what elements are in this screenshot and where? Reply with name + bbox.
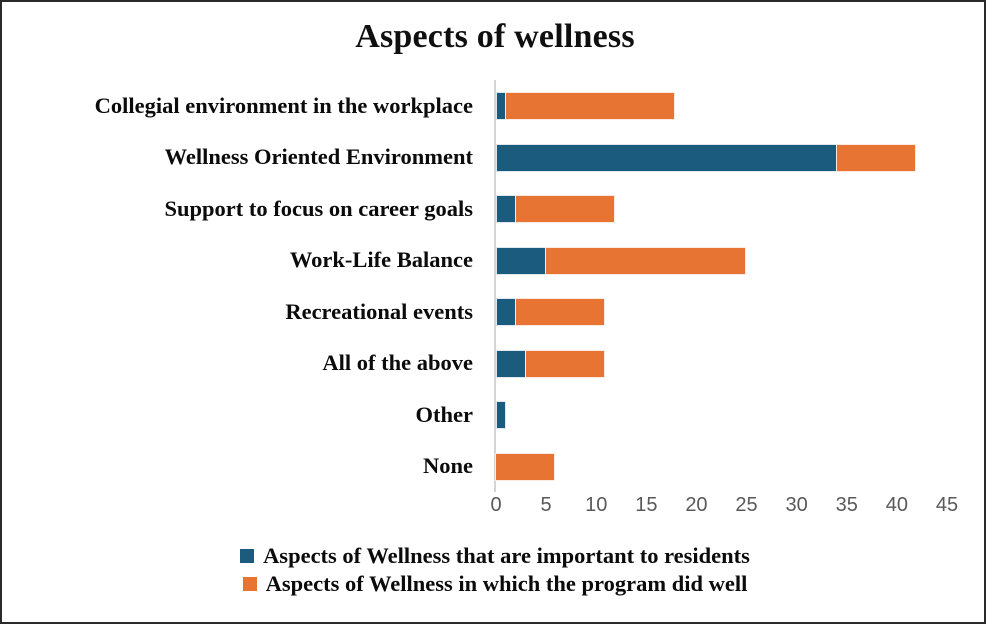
bar-segment-series-b [495,453,555,481]
legend-item-series-a[interactable]: Aspects of Wellness that are important t… [2,542,986,570]
chart-legend: Aspects of Wellness that are important t… [2,542,986,598]
legend-swatch-series-a [240,549,254,563]
bar-segment-series-a [496,247,546,275]
x-tick-label: 40 [886,494,908,517]
bar-segment-series-a [496,401,506,429]
category-label: Other [2,389,482,441]
bar-segment-series-a [496,144,837,172]
bar-segment-series-a [496,195,516,223]
chart-row: Wellness Oriented Environment [2,132,986,184]
stacked-bar [496,350,605,378]
chart-figure: Aspects of wellness Collegial environmen… [0,0,986,624]
category-label: Support to focus on career goals [2,183,482,235]
category-label: Work-Life Balance [2,235,482,287]
x-tick-label: 35 [836,494,858,517]
stacked-bar [496,298,605,326]
bar-segment-series-b [545,247,745,275]
bar-segment-series-a [496,350,526,378]
x-tick-label: 10 [585,494,607,517]
legend-swatch-series-b [243,577,257,591]
chart-row: Recreational events [2,286,986,338]
category-label: Recreational events [2,286,482,338]
stacked-bar [496,401,506,429]
x-tick-label: 20 [685,494,707,517]
chart-row: Other [2,389,986,441]
chart-row: Work-Life Balance [2,235,986,287]
x-tick-label: 25 [735,494,757,517]
x-tick-label: 45 [936,494,958,517]
x-tick-label: 0 [490,494,501,517]
x-axis-ticks: 051015202530354045 [2,494,986,528]
stacked-bar [496,453,555,481]
x-tick-label: 5 [541,494,552,517]
bar-segment-series-b [505,92,675,120]
x-tick-label: 15 [635,494,657,517]
bar-segment-series-b [515,195,615,223]
category-label: All of the above [2,338,482,390]
legend-label-series-a: Aspects of Wellness that are important t… [263,543,750,569]
bar-segment-series-b [525,350,605,378]
chart-row: None [2,441,986,493]
bar-segment-series-a [496,298,516,326]
stacked-bar [496,247,746,275]
chart-row: All of the above [2,338,986,390]
stacked-bar [496,195,615,223]
stacked-bar [496,92,675,120]
page-title: Aspects of wellness [2,18,986,56]
bar-segment-series-b [836,144,916,172]
legend-label-series-b: Aspects of Wellness in which the program… [266,571,748,597]
bar-segment-series-b [515,298,605,326]
category-label: None [2,441,482,493]
stacked-bar [496,144,916,172]
category-label: Collegial environment in the workplace [2,80,482,132]
chart-row: Collegial environment in the workplace [2,80,986,132]
plot-area: Collegial environment in the workplaceWe… [2,80,986,492]
x-tick-label: 30 [786,494,808,517]
chart-row: Support to focus on career goals [2,183,986,235]
category-label: Wellness Oriented Environment [2,132,482,184]
legend-item-series-b[interactable]: Aspects of Wellness in which the program… [2,570,986,598]
